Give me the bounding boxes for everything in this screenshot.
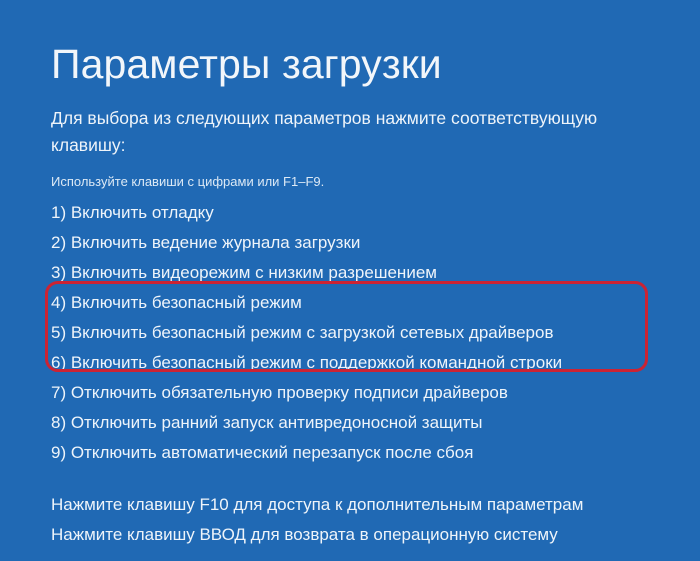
boot-options-list: 1) Включить отладку 2) Включить ведение … [51,198,671,468]
instruction-text: Для выбора из следующих параметров нажми… [51,105,655,159]
footer-instructions: Нажмите клавишу F10 для доступа к дополн… [51,490,671,550]
key-hint-text: Используйте клавиши с цифрами или F1–F9. [51,173,324,191]
boot-option-5[interactable]: 5) Включить безопасный режим с загрузкой… [51,318,671,348]
boot-option-3[interactable]: 3) Включить видеорежим с низким разрешен… [51,258,671,288]
boot-option-2[interactable]: 2) Включить ведение журнала загрузки [51,228,671,258]
boot-option-9[interactable]: 9) Отключить автоматический перезапуск п… [51,438,671,468]
boot-option-8[interactable]: 8) Отключить ранний запуск антивредоносн… [51,408,671,438]
boot-option-1[interactable]: 1) Включить отладку [51,198,671,228]
footer-line-enter: Нажмите клавишу ВВОД для возврата в опер… [51,520,671,550]
page-title: Параметры загрузки [51,41,442,88]
footer-line-f10: Нажмите клавишу F10 для доступа к дополн… [51,490,671,520]
boot-option-7[interactable]: 7) Отключить обязательную проверку подпи… [51,378,671,408]
boot-options-screen: Параметры загрузки Для выбора из следующ… [0,0,700,561]
boot-option-4[interactable]: 4) Включить безопасный режим [51,288,671,318]
boot-option-6[interactable]: 6) Включить безопасный режим с поддержко… [51,348,671,378]
